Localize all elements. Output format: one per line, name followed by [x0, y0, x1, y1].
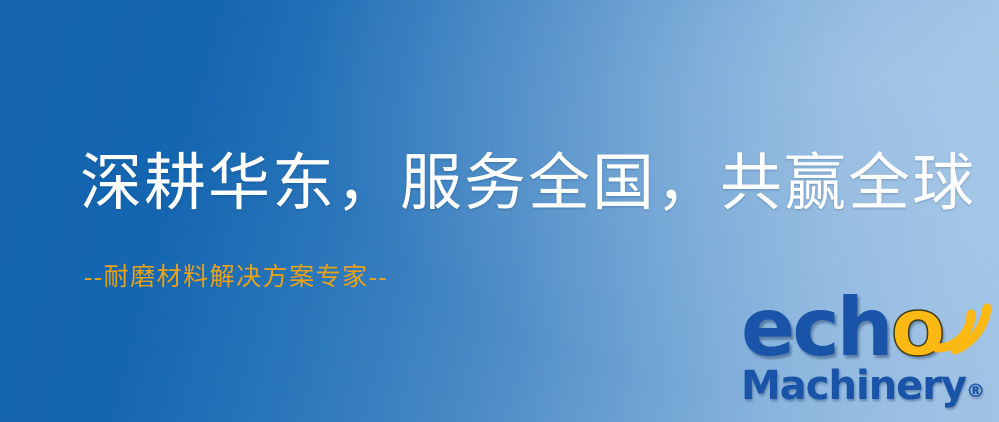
- signal-wave-icon: [929, 294, 991, 354]
- logo-tagline: Machinery®: [741, 366, 985, 406]
- logo-brand-ech: ech: [741, 281, 891, 374]
- promo-banner: 深耕华东，服务全国，共赢全球 --耐磨材料解决方案专家-- echo Machi…: [0, 0, 999, 422]
- logo-wordmark: echo: [735, 292, 993, 374]
- banner-subtitle: --耐磨材料解决方案专家--: [84, 263, 388, 293]
- logo-brand-name: echo: [741, 288, 943, 368]
- banner-headline: 深耕华东，服务全国，共赢全球: [80, 152, 976, 217]
- banner-content: 深耕华东，服务全国，共赢全球 --耐磨材料解决方案专家-- echo Machi…: [0, 0, 999, 422]
- registered-trademark-icon: ®: [966, 380, 985, 402]
- logo-machinery-text: Machinery: [741, 363, 966, 409]
- company-logo: echo Machinery®: [735, 292, 993, 420]
